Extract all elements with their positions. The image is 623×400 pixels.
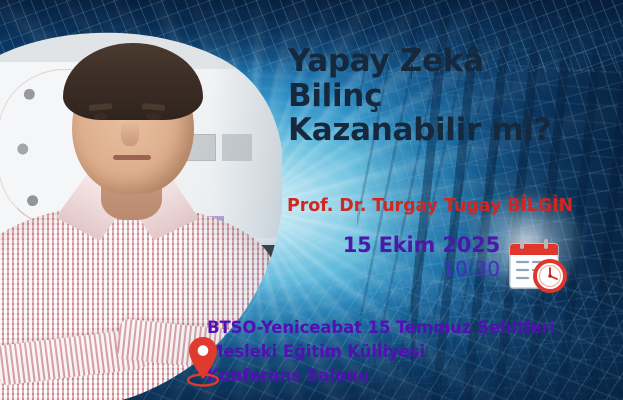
location-pin-icon [186,335,220,387]
event-time: 10:30 [300,257,500,282]
calendar-clock-icon [508,238,570,294]
event-date: 15 Ekim 2025 [300,234,500,257]
speaker-name: Prof. Dr. Turgay Tugay BİLGİN [287,196,617,216]
title-line-2: Bilinç [288,79,618,114]
title-line-1: Yapay Zekâ [288,44,618,79]
event-poster: Yapay Zekâ Bilinç Kazanabilir mi? Prof. … [0,0,623,400]
venue-line-3: Konferans Salonu [207,364,617,388]
venue-line-1: BTSO-Yeniceabat 15 Temmuz Şehitleri [207,316,617,340]
venue-address: BTSO-Yeniceabat 15 Temmuz Şehitleri Mesl… [207,316,617,387]
title-line-3: Kazanabilir mi? [288,113,618,148]
event-datetime: 15 Ekim 2025 10:30 [300,234,500,282]
poster-title: Yapay Zekâ Bilinç Kazanabilir mi? [288,44,618,148]
venue-line-2: Mesleki Eğitim Külliyesi [207,340,617,364]
